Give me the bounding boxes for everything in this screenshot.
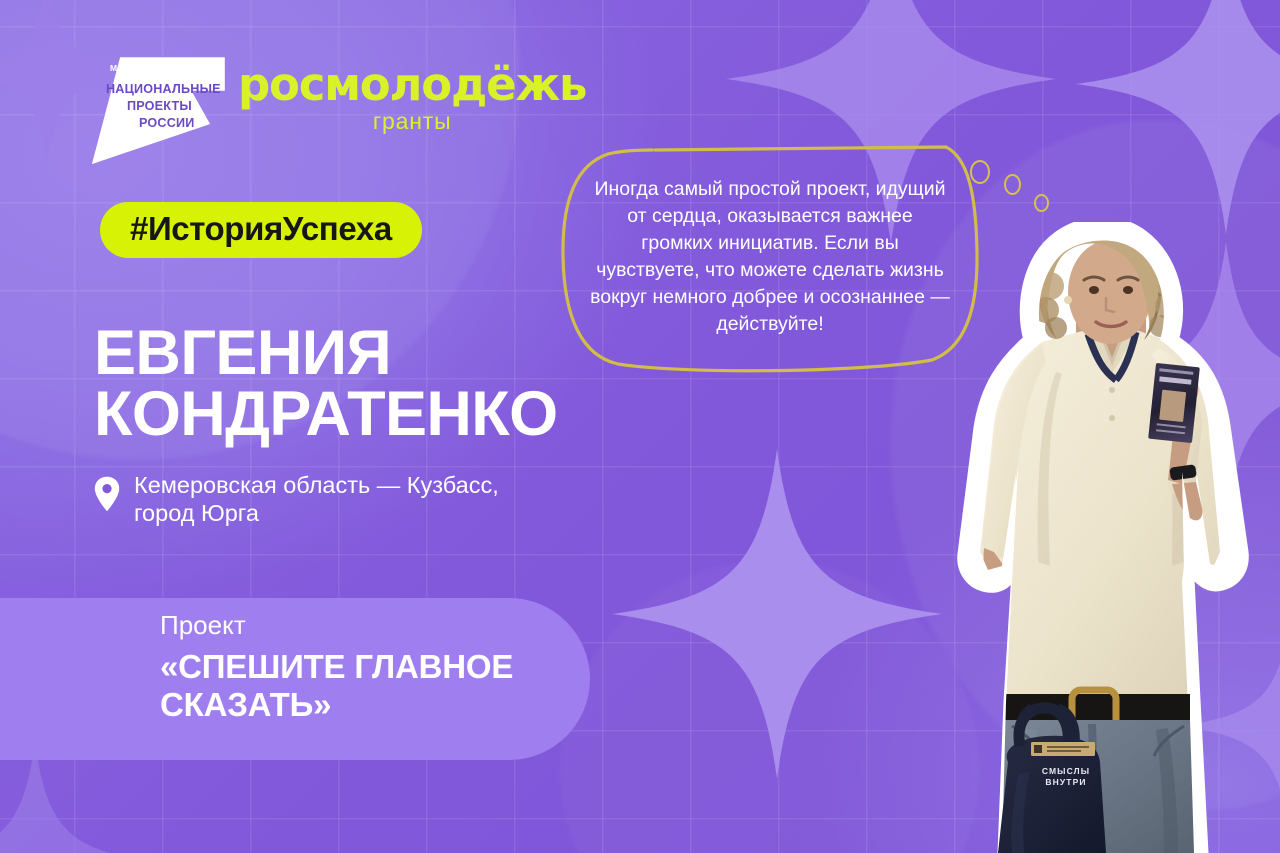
national-projects-logo: МОЛОДЁЖЬ И ДЕТИ НАЦИОНАЛЬНЫЕ ПРОЕКТЫ РОС… [72,46,232,174]
hashtag-badge: #ИсторияУспеха [100,202,422,258]
bag-tag-square-icon [1034,745,1042,753]
badge-card-line-2 [1156,429,1185,434]
hero-last-name: КОНДРАТЕНКО [94,384,714,445]
logo-top-line: МОЛОДЁЖЬ И ДЕТИ [110,64,202,73]
bag-slogan-line-2: ВНУТРИ [1045,777,1086,787]
project-title-line-2: СКАЗАТЬ» [160,686,680,724]
badge-card-header [1159,368,1193,375]
project-label: Проект [160,612,680,638]
person-photo [946,222,1280,853]
success-story-poster: МОЛОДЁЖЬ И ДЕТИ НАЦИОНАЛЬНЫЕ ПРОЕКТЫ РОС… [0,0,1280,853]
wordmark-main: росмолодёжь [238,62,586,107]
badge-card-photo [1159,390,1186,422]
location-text: Кемеровская область — Кузбасс, город Юрг… [134,472,499,527]
circle-outline-2 [1004,174,1021,195]
badge-card [1148,363,1200,443]
bag-tag-line-2 [1047,750,1081,752]
bag-slogan-line-1: СМЫСЛЫ [1042,766,1090,776]
logo-line-2: ПРОЕКТЫ [127,100,192,113]
decorative-circles [966,160,1066,222]
bag-logo-tag [1031,742,1095,756]
project-title: «СПЕШИТЕ ГЛАВНОЕ СКАЗАТЬ» [160,648,680,723]
sparkle-star-top-right [1076,0,1280,234]
bag-tag-line-1 [1047,746,1089,748]
logo-line-3: РОССИИ [139,117,195,130]
badge-card-line-1 [1157,423,1186,428]
bag-slogan: СМЫСЛЫ ВНУТРИ [1018,766,1114,788]
badge-card-title [1159,376,1191,384]
location-block: Кемеровская область — Кузбасс, город Юрг… [94,472,499,527]
map-pin-icon [94,476,120,512]
circle-outline-1 [970,160,990,184]
logo-line-1: НАЦИОНАЛЬНЫЕ [106,83,221,96]
rosmolodezh-wordmark: росмолодёжь гранты [238,62,586,133]
wordmark-sub: гранты [238,110,586,133]
circle-outline-3 [1034,194,1049,212]
project-text-block: Проект «СПЕШИТЕ ГЛАВНОЕ СКАЗАТЬ» [160,612,680,723]
quote-text: Иногда самый простой проект, идущий от с… [590,176,950,337]
location-line-1: Кемеровская область — Кузбасс, [134,472,499,498]
location-line-2: город Юрга [134,500,259,526]
quote-bubble: Иногда самый простой проект, идущий от с… [560,142,980,374]
project-title-line-1: «СПЕШИТЕ ГЛАВНОЕ [160,648,680,686]
